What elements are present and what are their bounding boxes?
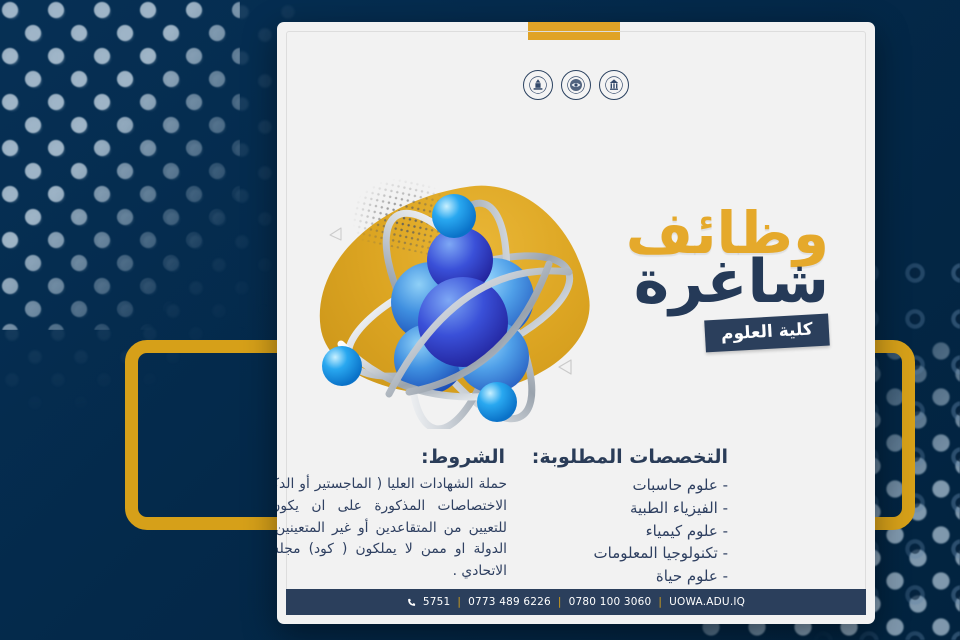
list-item: - علوم حاسبات [594, 474, 728, 497]
contact-website: UOWA.ADU.IQ [669, 596, 745, 608]
atom-illustration [299, 172, 619, 437]
contact-phone-1: 5751 [423, 596, 451, 608]
list-item: - علوم حياة [594, 565, 728, 588]
contact-bar: 5751 | 0773 489 6226 | 0780 100 3060 | U… [286, 589, 866, 615]
contact-separator-1: | [457, 596, 461, 608]
electron-bottom [477, 382, 517, 422]
list-item: - تكنولوجيا المعلومات [594, 542, 728, 565]
specializations-heading: التخصصات المطلوبة: [532, 446, 728, 468]
faculty-badge: كلية العلوم [704, 314, 829, 353]
university-seal-2-icon [561, 70, 591, 100]
conditions-text: حملة الشهادات العليا ( الماجستير أو الدك… [277, 474, 507, 583]
poster-card: وظائف شاغرة كلية العلوم التخصصات المطلوب… [277, 22, 875, 624]
gold-tab [528, 22, 620, 40]
phone-icon [407, 598, 416, 607]
poster-scene: وظائف شاغرة كلية العلوم التخصصات المطلوب… [0, 0, 960, 640]
university-seal-1-icon [523, 70, 553, 100]
conditions-heading: الشروط: [421, 446, 505, 468]
list-item: - الفيزياء الطبية [594, 497, 728, 520]
headline-navy: شاغرة [626, 254, 829, 311]
list-item: - علوم كيمياء [594, 520, 728, 543]
atom-graphic [309, 194, 609, 429]
contact-separator-2: | [558, 596, 562, 608]
electron-left [322, 346, 362, 386]
contact-separator-3: | [658, 596, 662, 608]
contact-phone-2: 0773 489 6226 [468, 596, 551, 608]
electron-top [432, 194, 476, 238]
contact-phone-3: 0780 100 3060 [569, 596, 652, 608]
university-seal-3-icon [599, 70, 629, 100]
logo-row [277, 70, 875, 100]
headline-block: وظائف شاغرة كلية العلوم [626, 207, 829, 349]
